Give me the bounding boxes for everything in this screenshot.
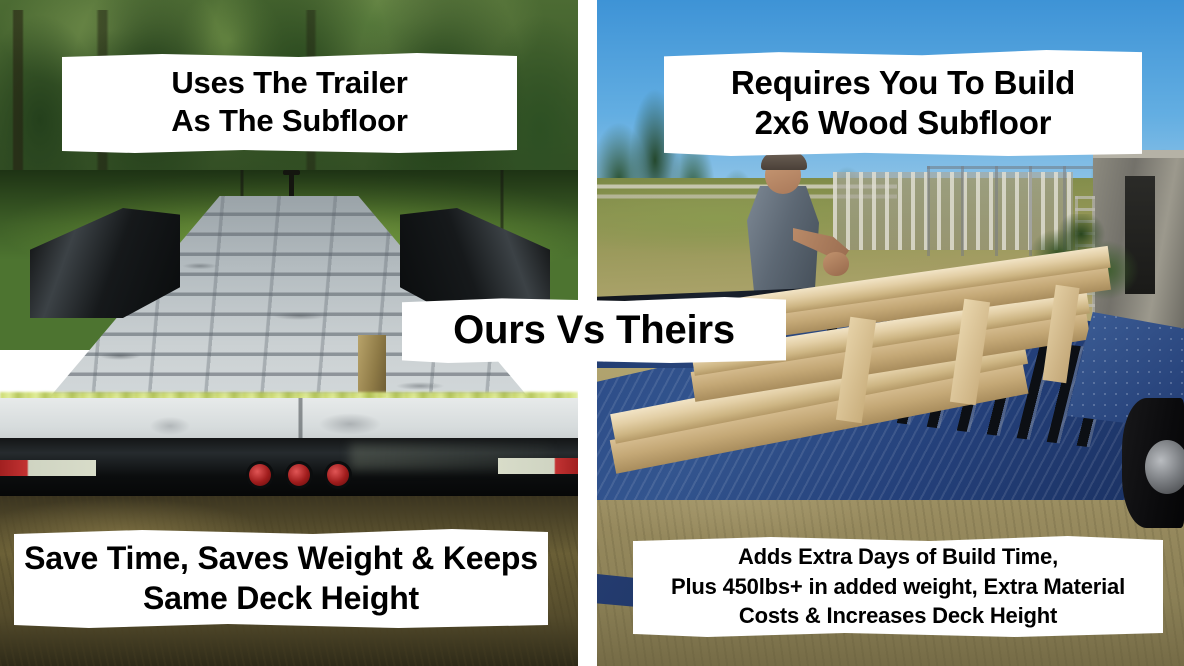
trailer-jack-handle [283, 170, 300, 175]
tail-light-icon [249, 464, 271, 486]
banner-line: Costs & Increases Deck Height [739, 601, 1057, 630]
banner-ours-headline: Uses The Trailer As The Subfloor [62, 53, 517, 153]
banner-line: Uses The Trailer [171, 64, 407, 102]
banner-line: As The Subfloor [171, 102, 407, 140]
wood-block [358, 335, 386, 397]
banner-line: Requires You To Build [731, 63, 1075, 103]
banner-ours-benefit: Save Time, Saves Weight & Keeps Same Dec… [14, 529, 548, 628]
reflector-strip-right [498, 458, 578, 474]
banner-line: Same Deck Height [143, 579, 419, 618]
page-title: Ours Vs Theirs [453, 306, 735, 355]
banner-theirs-headline: Requires You To Build 2x6 Wood Subfloor [664, 50, 1142, 156]
tail-light-icon [288, 464, 310, 486]
comparison-graphic: Uses The Trailer As The Subfloor Require… [0, 0, 1184, 666]
banner-main-title: Ours Vs Theirs [402, 297, 786, 363]
banner-line: Save Time, Saves Weight & Keeps [24, 539, 538, 578]
banner-line: 2x6 Wood Subfloor [755, 103, 1052, 143]
wheel-hub [1145, 440, 1184, 494]
person-hand [823, 252, 849, 276]
reflector-strip-left [0, 460, 96, 476]
tail-light-icon [327, 464, 349, 486]
banner-line: Adds Extra Days of Build Time, [738, 542, 1058, 571]
banner-line: Plus 450lbs+ in added weight, Extra Mate… [671, 572, 1125, 601]
banner-theirs-drawback: Adds Extra Days of Build Time, Plus 450l… [633, 536, 1163, 637]
